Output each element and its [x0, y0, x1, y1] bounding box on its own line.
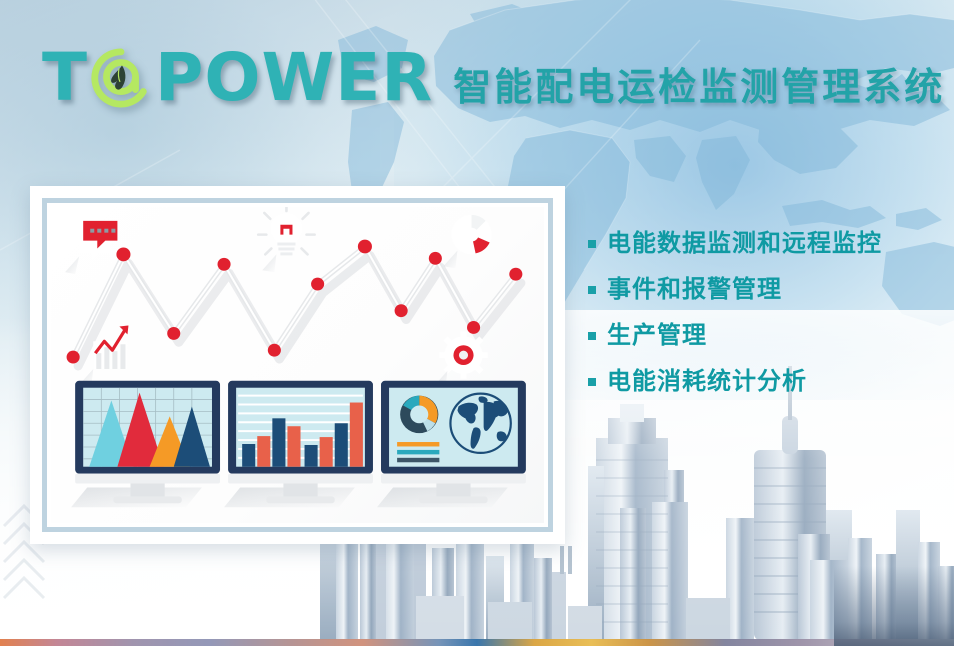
list-item[interactable]: 生产管理 — [588, 320, 938, 350]
promo-banner: T POWER 智能配电运检监测管理系统 — [0, 0, 954, 646]
bullet-square-icon — [588, 240, 596, 248]
logo-word-power: POWER — [155, 45, 433, 111]
feature-label: 事件和报警管理 — [607, 274, 782, 304]
gear-icon — [433, 331, 487, 388]
feature-list: 电能数据监测和远程监控 事件和报警管理 生产管理 电能消耗统计分析 — [588, 228, 938, 412]
illustration-card — [30, 186, 565, 544]
lightbulb-icon — [258, 207, 314, 272]
bottom-right-shade — [834, 566, 954, 646]
illustration-inner-border — [42, 198, 553, 532]
feature-label: 电能数据监测和远程监控 — [607, 228, 882, 258]
brand-logo: T POWER 智能配电运检监测管理系统 — [42, 44, 945, 111]
list-item[interactable]: 电能消耗统计分析 — [588, 366, 938, 396]
list-item[interactable]: 事件和报警管理 — [588, 274, 938, 304]
bottom-photo-strip — [0, 639, 954, 646]
monitor-area-chart — [71, 381, 220, 507]
list-item[interactable]: 电能数据监测和远程监控 — [588, 228, 938, 258]
illustration-canvas — [51, 207, 544, 523]
page-title: 智能配电运检监测管理系统 — [453, 44, 945, 111]
logo-letter-t: T — [42, 45, 88, 111]
monitor-bar-chart — [224, 381, 373, 507]
pie-chart-icon — [443, 215, 491, 268]
at-leaf-logo-icon — [90, 47, 152, 109]
monitor-dashboard — [377, 381, 526, 507]
bullet-square-icon — [588, 286, 596, 294]
bullet-square-icon — [588, 378, 596, 386]
bullet-square-icon — [588, 332, 596, 340]
feature-label: 电能消耗统计分析 — [607, 366, 807, 396]
chat-bubble-icon — [65, 221, 117, 274]
feature-label: 生产管理 — [607, 320, 707, 350]
